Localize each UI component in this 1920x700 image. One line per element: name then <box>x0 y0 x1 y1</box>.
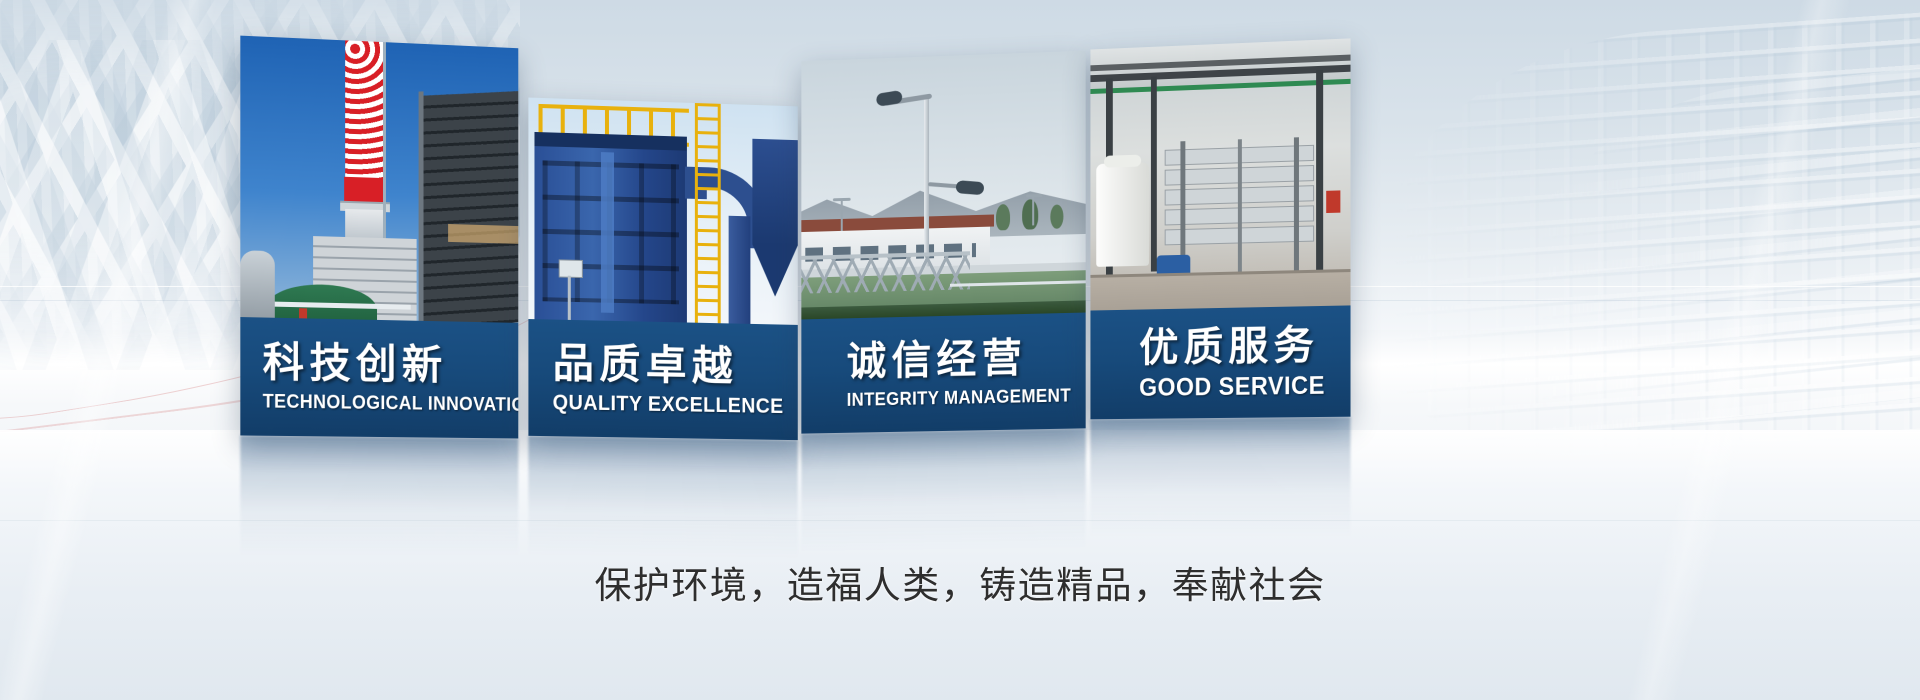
banner-stage: 科技创新 TECHNOLOGICAL INNOVATION <box>0 0 1920 700</box>
rack-frame-mid <box>1238 139 1242 273</box>
vessel-center-seam <box>601 152 614 313</box>
photo-blue-dust-collector <box>528 98 797 325</box>
chimney-red-band <box>344 177 386 204</box>
rack-frame-right <box>1294 137 1299 272</box>
photo-wastewater-treatment-plant <box>801 51 1085 320</box>
photo-industrial-chimney-stack <box>240 36 518 323</box>
tank-lid <box>1104 155 1141 168</box>
panel-title-en-3: INTEGRITY MANAGEMENT <box>847 386 1071 409</box>
duct-downpipe <box>729 216 751 324</box>
tree-2 <box>1022 199 1038 230</box>
far-lamp-2-head <box>1026 194 1042 198</box>
street-lamp-head-lower <box>955 180 984 195</box>
panel-integrity-management[interactable]: 诚信经营 INTEGRITY MANAGEMENT <box>801 51 1085 434</box>
panel-reflection-4 <box>1090 417 1350 538</box>
far-lamp-1 <box>841 199 843 231</box>
chimney-ladder-mast <box>383 42 386 252</box>
panel-reflection-3 <box>801 428 1085 552</box>
banner-tagline: 保护环境，造福人类，铸造精品，奉献社会 <box>0 555 1920 609</box>
walkway-truss <box>801 251 970 294</box>
panel-title-en-1: TECHNOLOGICAL INNOVATION <box>263 392 504 415</box>
riser-pipe-2 <box>1151 76 1157 271</box>
street-lamp-head-upper <box>876 90 903 107</box>
silo-tank <box>240 250 274 323</box>
panel-reflection-2 <box>528 436 797 560</box>
panel-title-cn-3: 诚信经营 <box>847 336 1086 384</box>
yellow-ladder <box>695 103 721 323</box>
panel-technological-innovation[interactable]: 科技创新 TECHNOLOGICAL INNOVATION <box>240 36 518 439</box>
chemical-dosing-tank <box>1096 162 1149 267</box>
photo-water-treatment-interior <box>1090 38 1350 310</box>
red-valve <box>1326 190 1340 213</box>
hopper-cone <box>752 244 797 297</box>
panel-title-en-4: GOOD SERVICE <box>1139 372 1337 401</box>
panel-title-cn-4: 优质服务 <box>1139 324 1350 370</box>
caption-bar-4: 优质服务 GOOD SERVICE <box>1090 305 1350 419</box>
chimney-spiral-pattern <box>345 36 385 187</box>
panel-quality-excellence[interactable]: 品质卓越 QUALITY EXCELLENCE <box>528 98 797 441</box>
panel-title-en-2: QUALITY EXCELLENCE <box>553 392 784 418</box>
tower-scaffold-column <box>419 91 424 323</box>
control-box-pole <box>568 276 571 320</box>
riser-pipe-3 <box>1316 70 1323 270</box>
panel-title-cn-2: 品质卓越 <box>553 341 798 389</box>
panel-title-cn-1: 科技创新 <box>263 341 519 389</box>
far-lamp-2 <box>1032 195 1034 225</box>
panel-good-service[interactable]: 优质服务 GOOD SERVICE <box>1090 38 1350 419</box>
right-industrial-tower <box>423 91 519 323</box>
caption-bar-3: 诚信经营 INTEGRITY MANAGEMENT <box>801 313 1085 434</box>
hopper-body <box>752 139 797 246</box>
caption-bar-2: 品质卓越 QUALITY EXCELLENCE <box>528 319 797 440</box>
background-building-strip <box>448 224 518 244</box>
panel-reflection-1 <box>240 435 518 557</box>
tree-1 <box>996 204 1010 230</box>
far-lamp-1-head <box>833 198 851 202</box>
caption-bar-1: 科技创新 TECHNOLOGICAL INNOVATION <box>240 317 518 438</box>
